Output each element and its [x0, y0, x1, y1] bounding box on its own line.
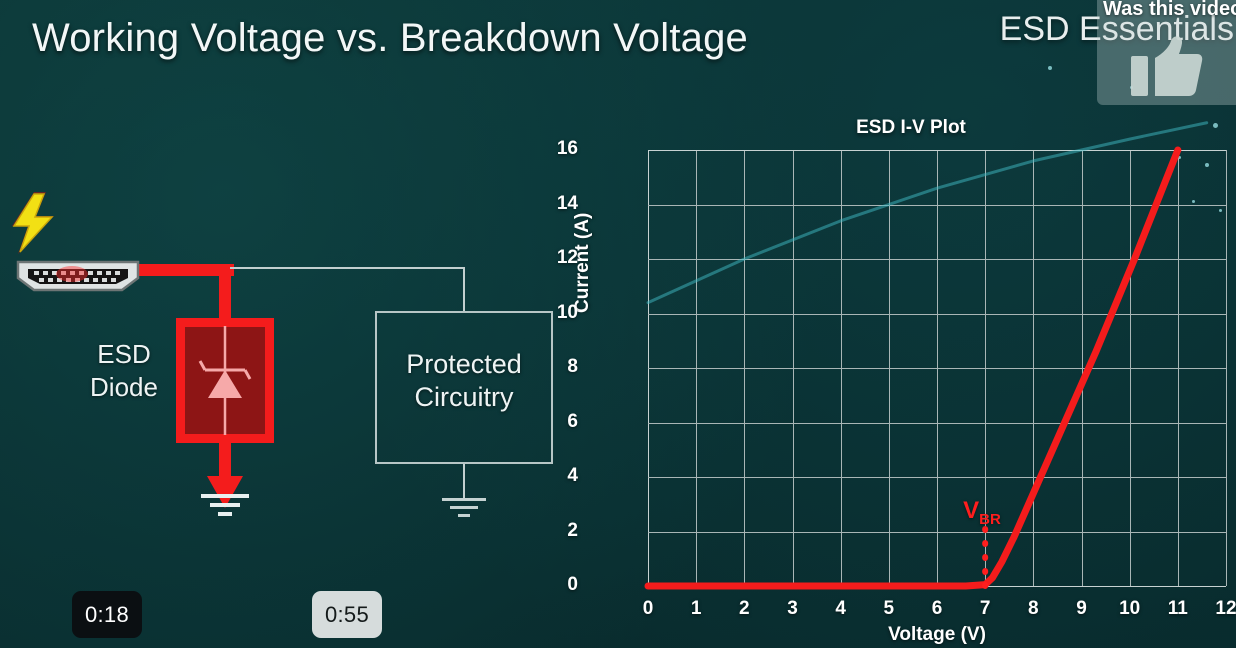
plot-area: VBR 01234567891011120246810121416	[648, 150, 1226, 586]
y-tick-label: 8	[518, 356, 578, 378]
wire-node-to-diode	[219, 264, 231, 326]
breakdown-voltage-label: VBR	[963, 497, 1001, 528]
series-esd	[648, 150, 1178, 586]
y-tick-label: 6	[518, 411, 578, 433]
y-tick-label: 10	[518, 302, 578, 324]
ground-symbol-icon	[199, 492, 251, 520]
x-tick-label: 8	[1013, 598, 1053, 620]
x-tick-label: 9	[1062, 598, 1102, 620]
x-axis-label: Voltage (V)	[648, 624, 1226, 646]
y-tick-label: 14	[518, 193, 578, 215]
y-tick-label: 4	[518, 465, 578, 487]
vbr-symbol: V	[963, 497, 979, 524]
vbr-subscript: BR	[979, 510, 1001, 527]
x-tick-label: 0	[628, 598, 668, 620]
x-tick-label: 3	[773, 598, 813, 620]
slide-canvas: Working Voltage vs. Breakdown Voltage ES…	[0, 0, 1236, 648]
x-tick-label: 6	[917, 598, 957, 620]
y-tick-label: 0	[518, 574, 578, 596]
sparkle-decoration	[1048, 66, 1052, 70]
series-background	[648, 123, 1207, 303]
timestamp-current-badge[interactable]: 0:18	[72, 591, 142, 638]
protected-ground-wire	[463, 463, 465, 498]
x-tick-label: 2	[724, 598, 764, 620]
x-tick-label: 4	[821, 598, 861, 620]
hdmi-connector-icon	[14, 258, 142, 294]
survey-prompt-label: Was this video helpful?	[1103, 0, 1236, 21]
x-tick-label: 10	[1110, 598, 1150, 620]
x-tick-label: 5	[869, 598, 909, 620]
page-title: Working Voltage vs. Breakdown Voltage	[32, 16, 748, 61]
x-tick-label: 12	[1206, 598, 1236, 620]
esd-iv-chart: ESD I-V Plot Current (A) Voltage (V) VBR…	[586, 108, 1236, 648]
x-tick-label: 11	[1158, 598, 1198, 620]
chart-curves	[648, 150, 1226, 586]
esd-protection-circuit-diagram: ESD Diode Protected Circuitry	[0, 180, 580, 550]
gridline-vertical	[1226, 150, 1227, 586]
y-tick-label: 16	[518, 138, 578, 160]
signal-wire-horizontal	[230, 267, 465, 269]
video-survey-overlay[interactable]: Was this video helpful?	[1097, 0, 1236, 105]
ground-symbol-icon	[440, 496, 488, 522]
tvs-zener-diode-icon	[176, 318, 274, 443]
thumbs-up-icon[interactable]	[1131, 34, 1203, 98]
timestamp-total-badge[interactable]: 0:55	[312, 591, 382, 638]
x-tick-label: 1	[676, 598, 716, 620]
y-tick-label: 12	[518, 247, 578, 269]
x-tick-label: 7	[965, 598, 1005, 620]
esd-diode-label: ESD Diode	[76, 338, 172, 404]
y-tick-label: 2	[518, 520, 578, 542]
signal-wire-vertical	[463, 267, 465, 312]
